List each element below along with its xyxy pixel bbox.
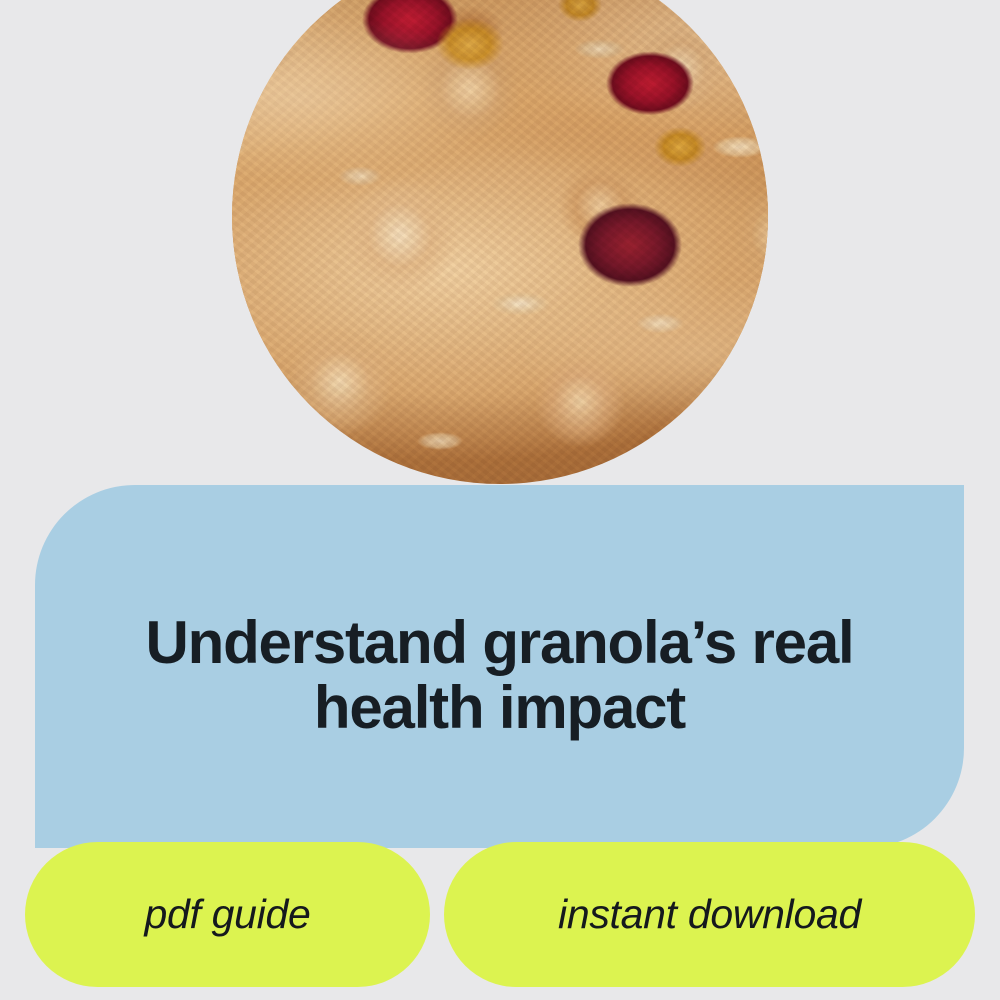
headline-card: Understand granola’s real health impact [35,485,964,848]
tag-pill-group: pdf guide instant download [25,842,975,987]
headline-text: Understand granola’s real health impact [35,611,964,741]
poster-canvas: Understand granola’s real health impact … [0,0,1000,1000]
granola-photo-circle [232,0,768,484]
tag-pill-instant-download-label: instant download [558,891,861,938]
photo-highlight-layer [232,0,768,484]
tag-pill-pdf-guide[interactable]: pdf guide [25,842,430,987]
tag-pill-pdf-guide-label: pdf guide [144,891,310,938]
tag-pill-instant-download[interactable]: instant download [444,842,975,987]
granola-photo [232,0,768,484]
